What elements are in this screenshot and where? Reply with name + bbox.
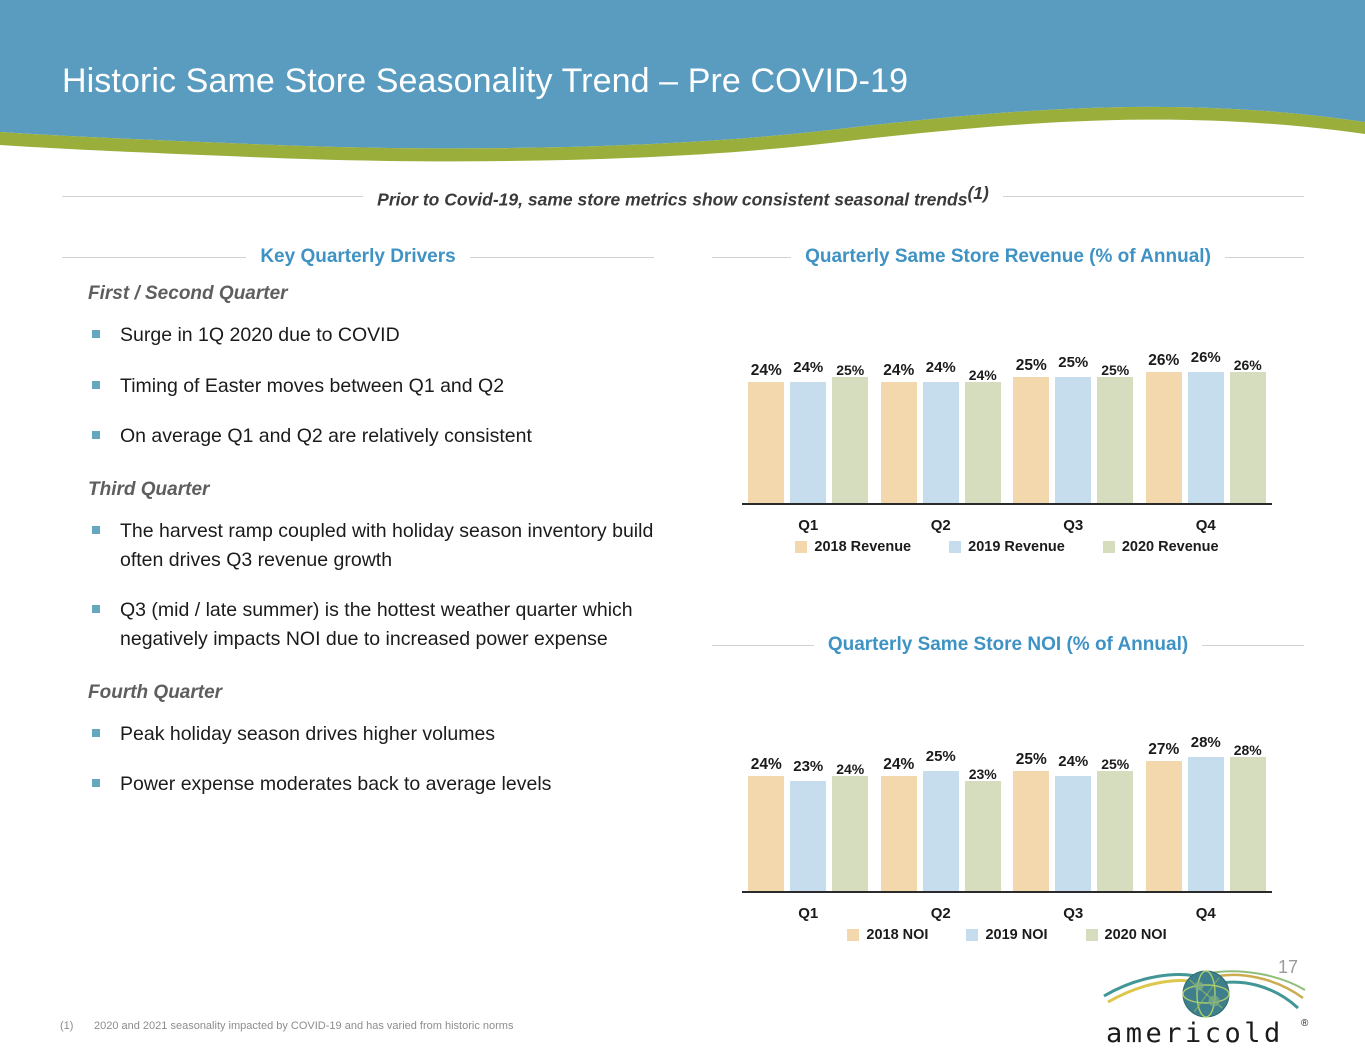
revenue-plot-area: 24%24%25%24%24%24%25%25%25%26%26%26%	[742, 330, 1272, 505]
bullet-square-icon	[92, 526, 100, 534]
legend-label: 2019 NOI	[985, 927, 1047, 943]
legend-item[interactable]: 2019 Revenue	[949, 539, 1065, 555]
logo-wordmark: americold	[1106, 1018, 1284, 1049]
revenue-legend: 2018 Revenue2019 Revenue2020 Revenue	[742, 539, 1272, 555]
bar-noi-q4-2020	[1230, 757, 1266, 891]
svg-text:®: ®	[1301, 1018, 1309, 1029]
legend-label: 2020 Revenue	[1122, 539, 1219, 555]
bullet-square-icon	[92, 330, 100, 338]
revenue-bar-chart: 24%24%25%24%24%24%25%25%25%26%26%26% Q1Q…	[742, 330, 1272, 555]
bar-value-label: 24%	[824, 761, 876, 777]
bar-value-label: 25%	[1089, 756, 1141, 772]
header-banner: Historic Same Store Seasonality Trend – …	[0, 0, 1365, 165]
category-label-q1: Q1	[742, 517, 875, 534]
bar-revenue-q4-2020	[1230, 372, 1266, 503]
bar-value-label: 24%	[957, 367, 1009, 383]
noi-section-rule-row: Quarterly Same Store NOI (% of Annual)	[712, 634, 1304, 656]
legend-swatch-icon	[795, 541, 807, 553]
bullet-square-icon	[92, 729, 100, 737]
noi-plot-area: 24%23%24%24%25%23%25%24%25%27%28%28%	[742, 718, 1272, 893]
driver-group-fourth-quarter: Fourth Quarter Peak holiday season drive…	[88, 682, 688, 799]
bar-noi-q4-2018	[1146, 761, 1182, 891]
bar-noi-q4-2019	[1188, 757, 1224, 891]
driver-group-title: Third Quarter	[88, 479, 688, 501]
rule-left	[712, 645, 814, 646]
list-item: Surge in 1Q 2020 due to COVID	[88, 321, 688, 350]
bar-revenue-q2-2020	[965, 382, 1001, 503]
list-item-text: Peak holiday season drives higher volume…	[120, 723, 495, 745]
noi-bar-chart: 24%23%24%24%25%23%25%24%25%27%28%28% Q1Q…	[742, 718, 1272, 943]
bar-value-label: 25%	[1089, 362, 1141, 378]
bar-noi-q3-2019	[1055, 776, 1091, 891]
driver-bullet-list: The harvest ramp coupled with holiday se…	[88, 517, 688, 654]
subtitle-footnote-marker: (1)	[967, 183, 988, 203]
bar-noi-q3-2020	[1097, 771, 1133, 891]
category-label-q1: Q1	[742, 905, 875, 922]
rule-right	[1225, 257, 1304, 258]
category-label-q4: Q4	[1140, 905, 1273, 922]
rule-right	[470, 257, 654, 258]
section-heading-key-drivers: Key Quarterly Drivers	[246, 246, 469, 268]
bar-noi-q2-2020	[965, 781, 1001, 891]
bar-revenue-q1-2020	[832, 377, 868, 503]
bar-revenue-q1-2018	[748, 382, 784, 503]
rule-right	[1202, 645, 1304, 646]
rule-right	[1003, 196, 1304, 197]
driver-group-title: Fourth Quarter	[88, 682, 688, 704]
category-label-q4: Q4	[1140, 517, 1273, 534]
legend-item[interactable]: 2020 Revenue	[1103, 539, 1219, 555]
subtitle-text: Prior to Covid-19, same store metrics sh…	[377, 189, 967, 209]
driver-group-first-second-quarter: First / Second Quarter Surge in 1Q 2020 …	[88, 283, 688, 451]
bar-revenue-q4-2019	[1188, 372, 1224, 503]
category-label-q3: Q3	[1007, 517, 1140, 534]
legend-swatch-icon	[1086, 929, 1098, 941]
noi-legend: 2018 NOI2019 NOI2020 NOI	[742, 927, 1272, 943]
bar-noi-q1-2018	[748, 776, 784, 891]
list-item: Q3 (mid / late summer) is the hottest we…	[88, 596, 688, 653]
bar-value-label: 25%	[915, 748, 967, 765]
americold-logo: americold ®	[1098, 968, 1313, 1050]
bullet-square-icon	[92, 381, 100, 389]
bar-noi-q2-2018	[881, 776, 917, 891]
rule-left	[712, 257, 791, 258]
driver-bullet-list: Peak holiday season drives higher volume…	[88, 720, 688, 799]
list-item: On average Q1 and Q2 are relatively cons…	[88, 422, 688, 451]
bar-revenue-q3-2019	[1055, 377, 1091, 503]
bar-revenue-q2-2019	[923, 382, 959, 503]
rule-left	[62, 257, 246, 258]
legend-item[interactable]: 2018 Revenue	[795, 539, 911, 555]
revenue-category-axis: Q1Q2Q3Q4	[742, 505, 1272, 535]
revenue-section-rule-row: Quarterly Same Store Revenue (% of Annua…	[712, 246, 1304, 268]
legend-label: 2019 Revenue	[968, 539, 1065, 555]
footnote-number: (1)	[60, 1020, 94, 1032]
bar-value-label: 28%	[1222, 742, 1274, 758]
section-heading-revenue: Quarterly Same Store Revenue (% of Annua…	[791, 246, 1225, 268]
legend-item[interactable]: 2019 NOI	[966, 927, 1047, 943]
driver-bullet-list: Surge in 1Q 2020 due to COVID Timing of …	[88, 321, 688, 451]
key-drivers-content: First / Second Quarter Surge in 1Q 2020 …	[88, 283, 688, 827]
bar-noi-q1-2019	[790, 781, 826, 891]
legend-item[interactable]: 2020 NOI	[1086, 927, 1167, 943]
list-item-text: On average Q1 and Q2 are relatively cons…	[120, 425, 532, 447]
subtitle-rule-row: Prior to Covid-19, same store metrics sh…	[62, 183, 1304, 210]
page-title: Historic Same Store Seasonality Trend – …	[62, 62, 908, 101]
list-item-text: Surge in 1Q 2020 due to COVID	[120, 324, 400, 346]
bar-value-label: 26%	[1222, 357, 1274, 373]
legend-swatch-icon	[847, 929, 859, 941]
legend-swatch-icon	[1103, 541, 1115, 553]
bullet-square-icon	[92, 779, 100, 787]
legend-label: 2018 NOI	[866, 927, 928, 943]
slide: Historic Same Store Seasonality Trend – …	[0, 0, 1365, 1055]
bullet-square-icon	[92, 605, 100, 613]
legend-item[interactable]: 2018 NOI	[847, 927, 928, 943]
list-item-text: The harvest ramp coupled with holiday se…	[120, 520, 653, 571]
left-section-rule-row: Key Quarterly Drivers	[62, 246, 654, 268]
section-heading-noi: Quarterly Same Store NOI (% of Annual)	[814, 634, 1202, 656]
footnote-text: 2020 and 2021 seasonality impacted by CO…	[94, 1020, 513, 1032]
noi-category-axis: Q1Q2Q3Q4	[742, 893, 1272, 923]
bar-revenue-q2-2018	[881, 382, 917, 503]
category-label-q3: Q3	[1007, 905, 1140, 922]
driver-group-third-quarter: Third Quarter The harvest ramp coupled w…	[88, 479, 688, 654]
list-item-text: Q3 (mid / late summer) is the hottest we…	[120, 599, 633, 650]
legend-swatch-icon	[966, 929, 978, 941]
driver-group-title: First / Second Quarter	[88, 283, 688, 305]
bar-value-label: 25%	[824, 362, 876, 378]
bar-noi-q3-2018	[1013, 771, 1049, 891]
footnote: (1)2020 and 2021 seasonality impacted by…	[60, 1020, 513, 1032]
legend-swatch-icon	[949, 541, 961, 553]
list-item-text: Timing of Easter moves between Q1 and Q2	[120, 375, 504, 397]
list-item-text: Power expense moderates back to average …	[120, 773, 551, 795]
bar-noi-q2-2019	[923, 771, 959, 891]
list-item: Timing of Easter moves between Q1 and Q2	[88, 372, 688, 401]
list-item: Power expense moderates back to average …	[88, 770, 688, 799]
category-label-q2: Q2	[875, 905, 1008, 922]
legend-label: 2020 NOI	[1105, 927, 1167, 943]
category-label-q2: Q2	[875, 517, 1008, 534]
list-item: Peak holiday season drives higher volume…	[88, 720, 688, 749]
rule-left	[62, 196, 363, 197]
bar-value-label: 23%	[957, 766, 1009, 782]
bullet-square-icon	[92, 431, 100, 439]
legend-label: 2018 Revenue	[814, 539, 911, 555]
bar-revenue-q1-2019	[790, 382, 826, 503]
subtitle-label-wrap: Prior to Covid-19, same store metrics sh…	[363, 183, 1003, 210]
bar-revenue-q3-2020	[1097, 377, 1133, 503]
bar-noi-q1-2020	[832, 776, 868, 891]
bar-revenue-q3-2018	[1013, 377, 1049, 503]
bar-revenue-q4-2018	[1146, 372, 1182, 503]
list-item: The harvest ramp coupled with holiday se…	[88, 517, 688, 574]
